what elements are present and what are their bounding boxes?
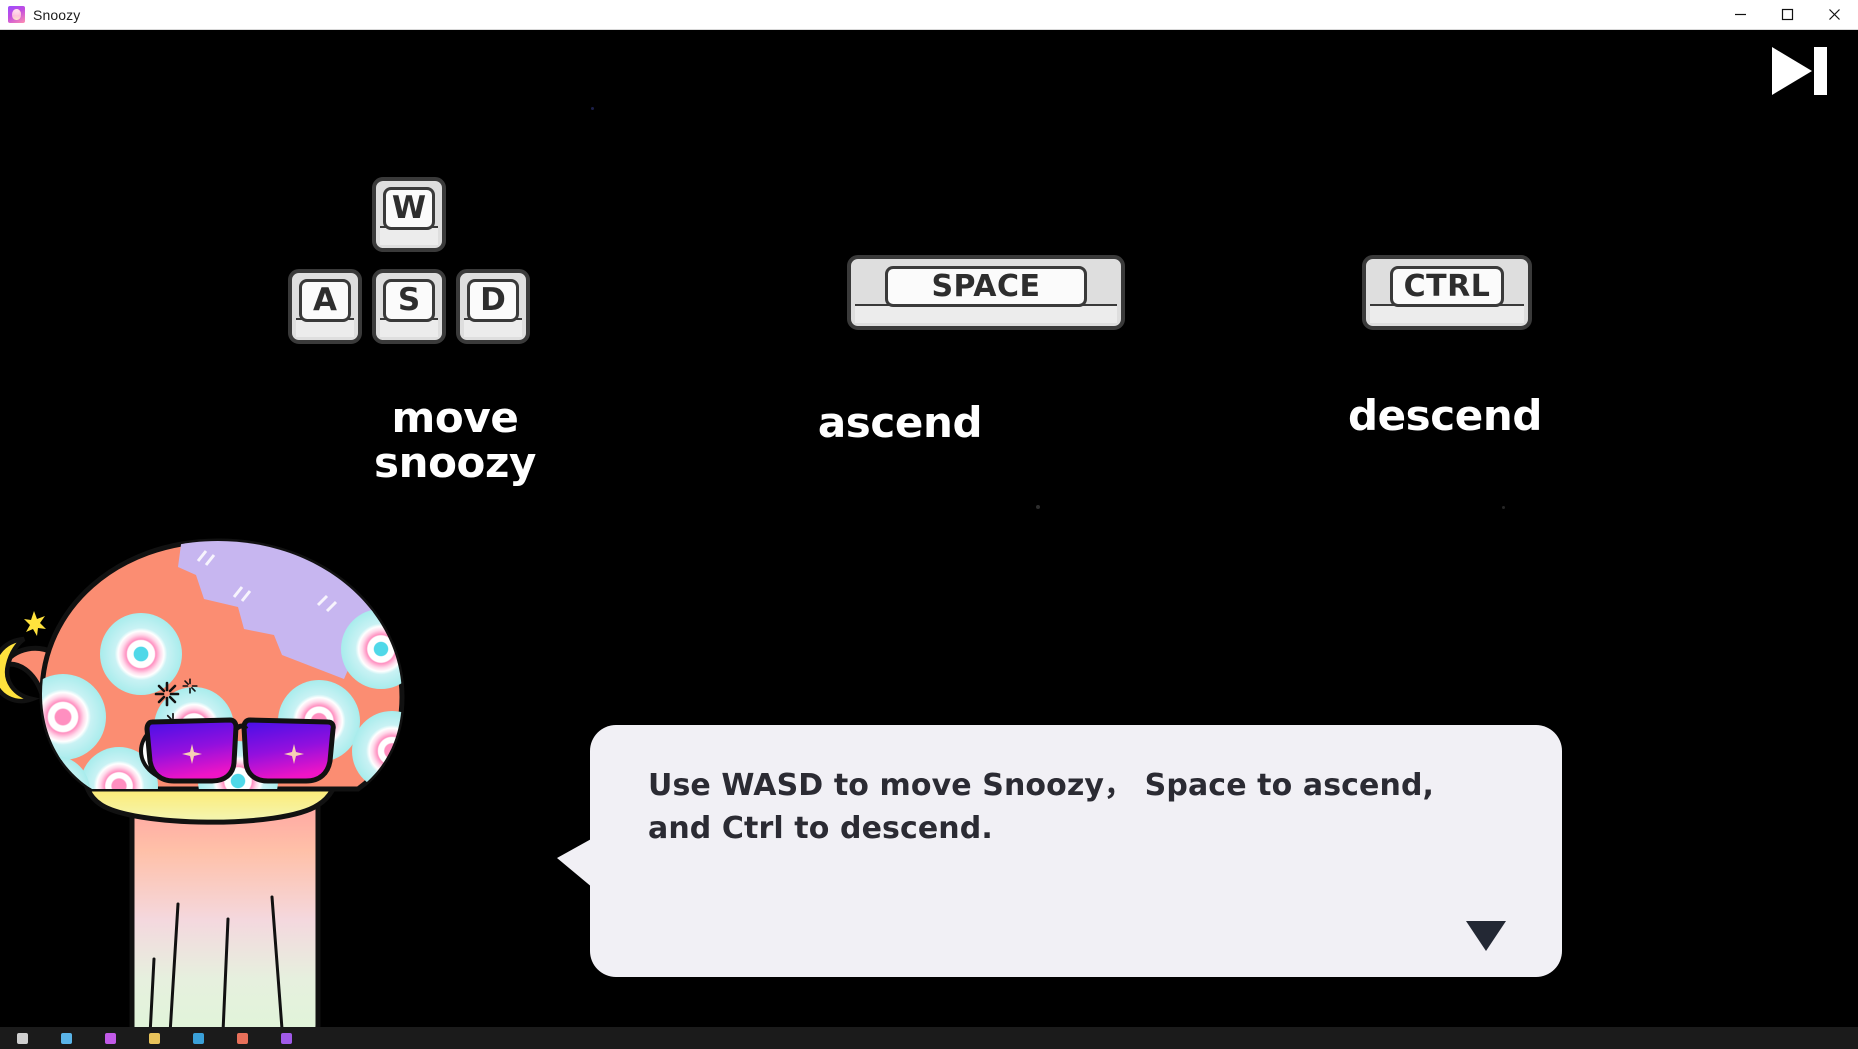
key-label: SPACE <box>885 266 1087 307</box>
key-s[interactable]: S <box>372 269 446 344</box>
key-d[interactable]: D <box>456 269 530 344</box>
snoozy-illustration <box>0 489 432 1049</box>
dialog-tail <box>557 838 593 888</box>
skip-forward-icon <box>1768 43 1830 99</box>
maximize-icon <box>1781 8 1794 21</box>
maximize-button[interactable] <box>1764 0 1811 29</box>
minimize-button[interactable] <box>1717 0 1764 29</box>
key-ctrl[interactable]: CTRL <box>1362 255 1532 330</box>
taskbar-item-task-view[interactable] <box>88 1027 132 1049</box>
snoozy-app-icon <box>8 6 25 23</box>
taskbar-item-start[interactable] <box>0 1027 44 1049</box>
taskbar-item-search[interactable] <box>44 1027 88 1049</box>
key-w[interactable]: W <box>372 177 446 252</box>
bg-particle <box>1036 505 1040 509</box>
action-label-descend: descend <box>1320 393 1570 438</box>
dialog-advance-button[interactable] <box>1466 921 1506 951</box>
bg-particle <box>591 107 594 110</box>
key-space[interactable]: SPACE <box>847 255 1125 330</box>
close-icon <box>1828 8 1841 21</box>
bg-particle <box>1502 506 1505 509</box>
window-title: Snoozy <box>33 7 80 23</box>
taskbar-item-store[interactable] <box>220 1027 264 1049</box>
key-label: A <box>299 279 351 322</box>
dialog-text: Use WASD to move Snoozy， Space to ascend… <box>648 765 1510 850</box>
os-taskbar <box>0 1027 1858 1049</box>
minimize-icon <box>1734 8 1747 21</box>
sparkle-icon <box>24 611 46 636</box>
dialog-box[interactable]: Use WASD to move Snoozy， Space to ascend… <box>590 725 1562 977</box>
key-a[interactable]: A <box>288 269 362 344</box>
key-label: W <box>383 187 435 230</box>
character-snoozy[interactable] <box>0 489 432 1049</box>
taskbar-item-app[interactable] <box>264 1027 308 1049</box>
taskbar-item-explorer[interactable] <box>132 1027 176 1049</box>
window-titlebar: Snoozy <box>0 0 1858 30</box>
close-button[interactable] <box>1811 0 1858 29</box>
key-label: S <box>383 279 435 322</box>
key-label: D <box>467 279 519 322</box>
action-label-move: move snoozy <box>330 395 580 486</box>
game-window: Snoozy W <box>0 0 1858 1049</box>
skip-button[interactable] <box>1762 38 1836 104</box>
action-label-ascend: ascend <box>775 400 1025 445</box>
taskbar-item-edge[interactable] <box>176 1027 220 1049</box>
key-label: CTRL <box>1390 266 1504 307</box>
